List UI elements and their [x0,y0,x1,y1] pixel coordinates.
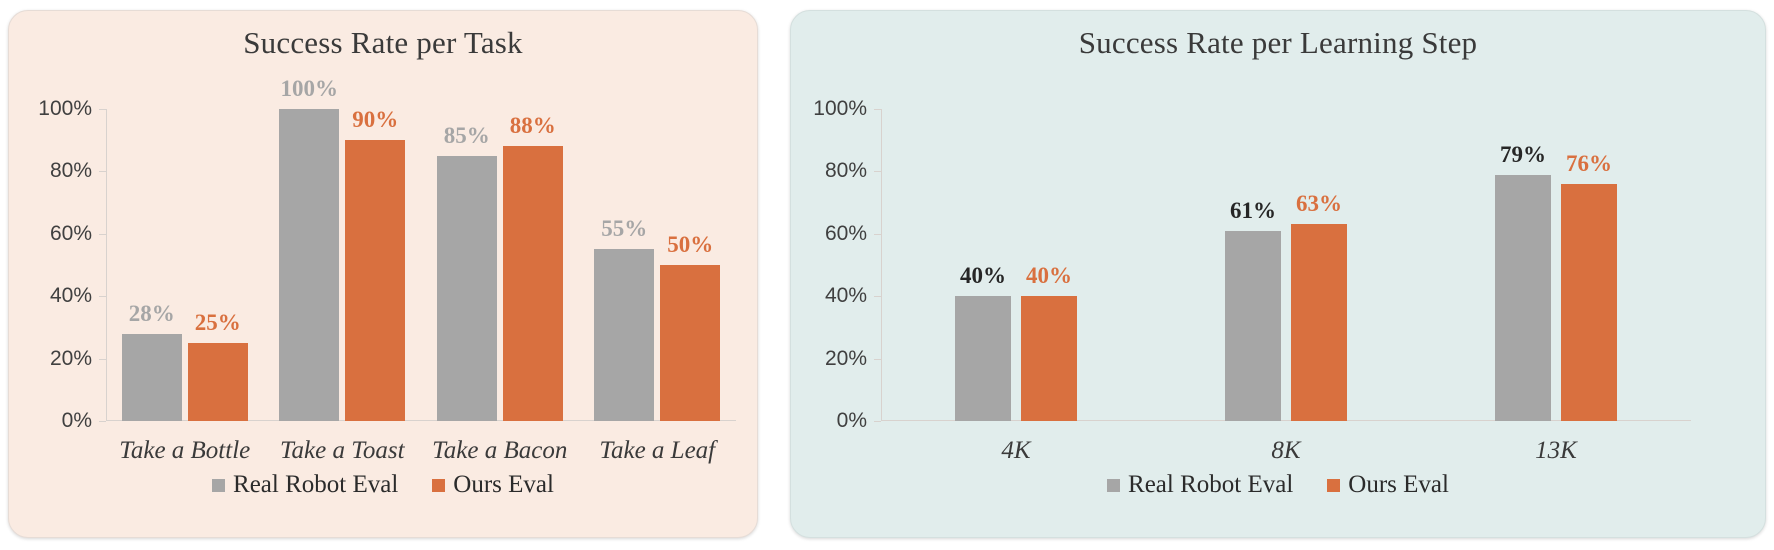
y-axis-tick [874,421,881,422]
y-axis-tick-label: 20% [50,347,92,371]
y-axis-tick-label: 0% [62,409,92,433]
y-axis-tick [99,421,106,422]
legend-label-real-robot-eval: Real Robot Eval [1128,471,1293,499]
x-axis-category-label: 4K [881,437,1151,465]
y-axis-tick [99,234,106,235]
y-axis-tick [874,296,881,297]
bar-ours-eval[interactable]: 63% [1291,224,1347,421]
bar-real-robot-eval[interactable]: 85% [437,156,497,421]
y-axis-tick [874,359,881,360]
y-axis-tick-label: 100% [38,97,92,121]
legend-left: Real Robot Eval Ours Eval [9,471,757,499]
bar-value-label: 88% [510,113,556,139]
bar-value-label: 50% [667,232,713,258]
bar-value-label: 61% [1230,198,1276,224]
legend-swatch-icon-gray [212,479,225,492]
y-axis-tick [99,296,106,297]
x-axis-category-label: 13K [1421,437,1691,465]
bar-value-label: 55% [601,216,647,242]
bar-ours-eval[interactable]: 40% [1021,296,1077,421]
bar-group: 79%76%13K [1421,109,1691,421]
bar-real-robot-eval[interactable]: 61% [1225,231,1281,421]
bar-group: 85%88%Take a Bacon [421,109,579,421]
chart-panel-success-rate-per-learning-step: Success Rate per Learning Step 40%40%4K6… [790,10,1766,538]
y-axis-tick-label: 40% [825,284,867,308]
chart-title-left: Success Rate per Task [9,25,757,61]
plot-area-left: 28%25%Take a Bottle100%90%Take a Toast85… [106,109,736,421]
legend-label-real-robot-eval: Real Robot Eval [233,471,398,499]
bar-group: 61%63%8K [1151,109,1421,421]
y-axis-tick-label: 60% [50,222,92,246]
plot-area-right: 40%40%4K61%63%8K79%76%13K 0%20%40%60%80%… [881,109,1691,421]
bar-ours-eval[interactable]: 88% [503,146,563,421]
y-axis-tick-label: 80% [825,159,867,183]
x-axis-category-label: Take a Toast [264,437,422,465]
legend-item-ours-eval[interactable]: Ours Eval [432,471,554,499]
y-axis-tick [874,171,881,172]
bar-group: 55%50%Take a Leaf [579,109,737,421]
y-axis-tick-label: 80% [50,159,92,183]
bar-group: 40%40%4K [881,109,1151,421]
legend-right: Real Robot Eval Ours Eval [791,471,1765,499]
bar-value-label: 63% [1296,191,1342,217]
x-axis-category-label: Take a Bacon [421,437,579,465]
x-axis-category-label: Take a Leaf [579,437,737,465]
y-axis-tick-label: 60% [825,222,867,246]
bar-ours-eval[interactable]: 25% [188,343,248,421]
chart-panel-success-rate-per-task: Success Rate per Task 28%25%Take a Bottl… [8,10,758,538]
y-axis-tick [99,359,106,360]
chart-title-right: Success Rate per Learning Step [791,25,1765,61]
bar-real-robot-eval[interactable]: 100% [279,109,339,421]
y-axis-tick [99,109,106,110]
bar-groups-right: 40%40%4K61%63%8K79%76%13K [881,109,1691,421]
bar-value-label: 40% [1026,263,1072,289]
y-axis-tick-label: 0% [837,409,867,433]
bar-real-robot-eval[interactable]: 28% [122,334,182,421]
legend-item-real-robot-eval[interactable]: Real Robot Eval [1107,471,1293,499]
bar-value-label: 76% [1566,151,1612,177]
legend-swatch-icon-gray [1107,479,1120,492]
bar-real-robot-eval[interactable]: 55% [594,249,654,421]
figure-root: Success Rate per Task 28%25%Take a Bottl… [0,0,1774,550]
y-axis-tick [874,234,881,235]
bar-value-label: 85% [444,123,490,149]
y-axis-tick [99,171,106,172]
legend-swatch-icon-orange [432,479,445,492]
legend-item-real-robot-eval[interactable]: Real Robot Eval [212,471,398,499]
bar-ours-eval[interactable]: 90% [345,140,405,421]
bar-ours-eval[interactable]: 50% [660,265,720,421]
bar-ours-eval[interactable]: 76% [1561,184,1617,421]
legend-swatch-icon-orange [1327,479,1340,492]
bar-value-label: 100% [281,76,339,102]
bar-group: 100%90%Take a Toast [264,109,422,421]
bar-value-label: 79% [1500,142,1546,168]
bar-groups-left: 28%25%Take a Bottle100%90%Take a Toast85… [106,109,736,421]
x-axis-category-label: Take a Bottle [106,437,264,465]
y-axis-tick-label: 40% [50,284,92,308]
bar-value-label: 90% [352,107,398,133]
y-axis-tick [874,109,881,110]
bar-real-robot-eval[interactable]: 79% [1495,175,1551,421]
bar-value-label: 40% [960,263,1006,289]
bar-value-label: 28% [129,301,175,327]
bar-real-robot-eval[interactable]: 40% [955,296,1011,421]
y-axis-tick-label: 20% [825,347,867,371]
x-axis-category-label: 8K [1151,437,1421,465]
bar-value-label: 25% [195,310,241,336]
legend-item-ours-eval[interactable]: Ours Eval [1327,471,1449,499]
legend-label-ours-eval: Ours Eval [1348,471,1449,499]
y-axis-tick-label: 100% [813,97,867,121]
bar-group: 28%25%Take a Bottle [106,109,264,421]
legend-label-ours-eval: Ours Eval [453,471,554,499]
